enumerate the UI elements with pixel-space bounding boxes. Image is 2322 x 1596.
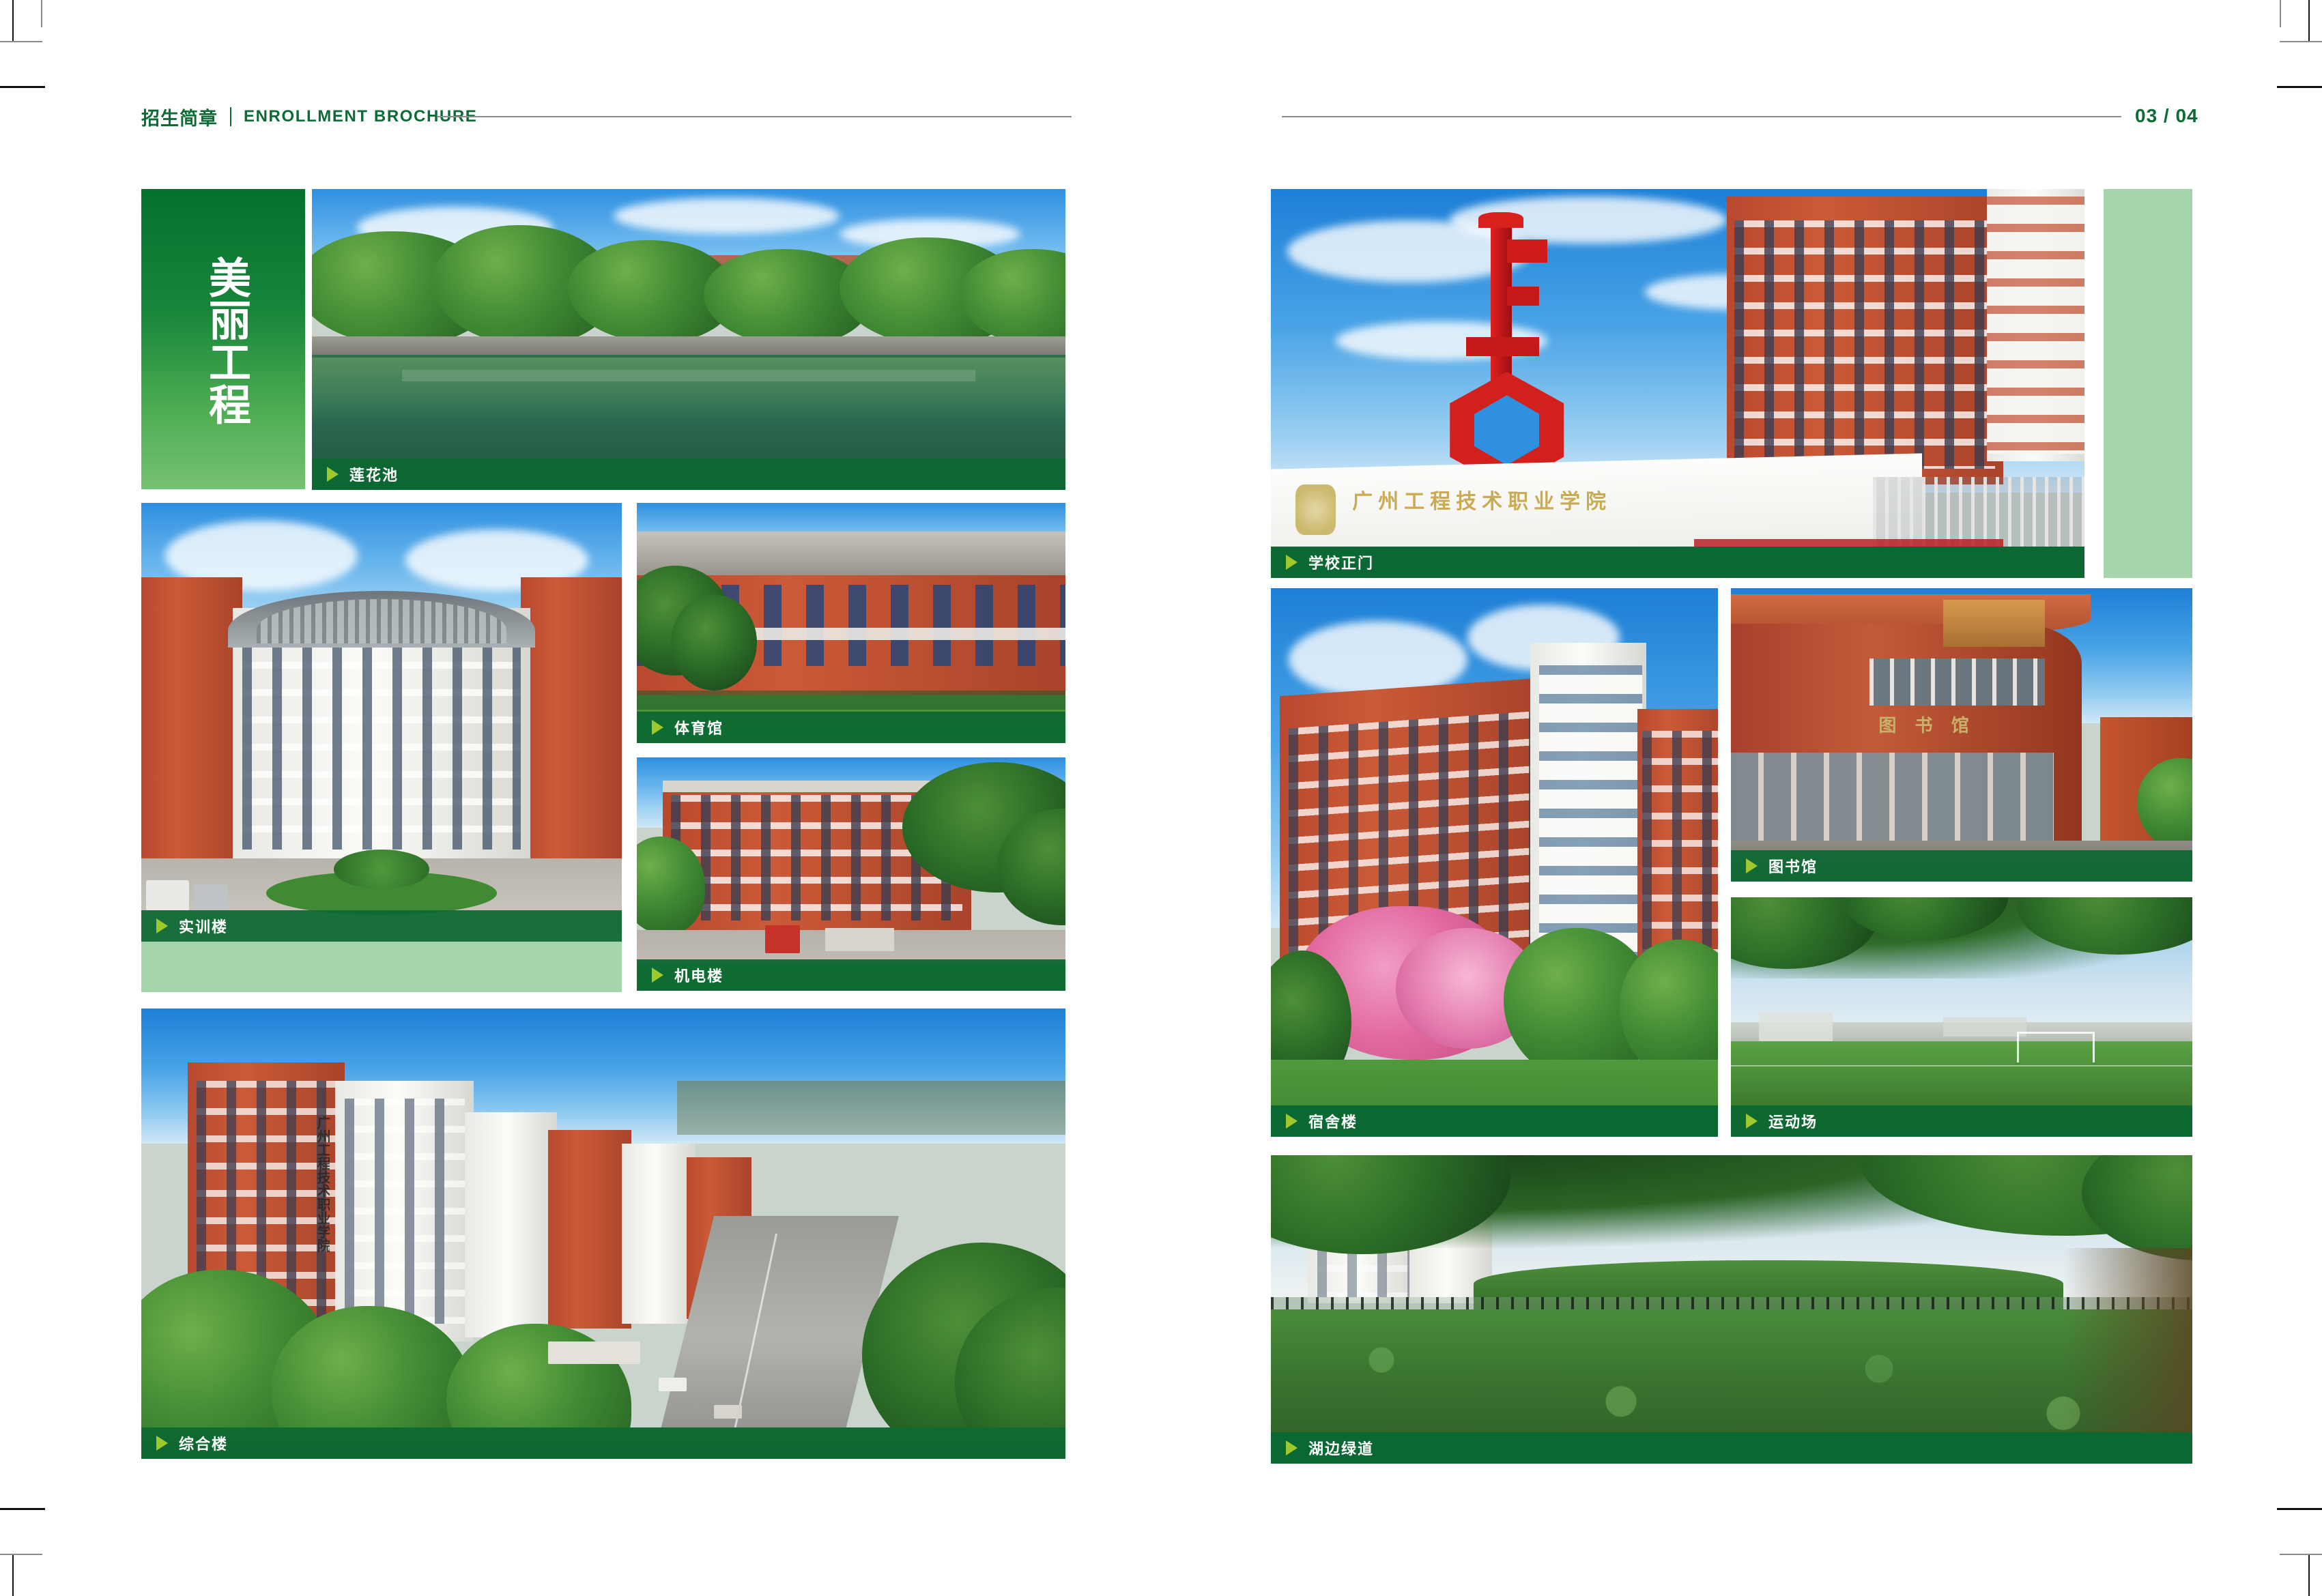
caption-label: 湖边绿道 <box>1308 1437 1374 1459</box>
caption-comprehensive-building: 综合楼 <box>141 1427 1065 1459</box>
caption-dormitory: 宿舍楼 <box>1271 1105 1718 1137</box>
caption-label: 学校正门 <box>1308 551 1374 573</box>
title-divider <box>230 107 231 126</box>
photo-dormitory[interactable]: 宿舍楼 <box>1271 588 1718 1137</box>
caption-label: 机电楼 <box>674 964 723 986</box>
triangle-icon <box>1286 1440 1298 1455</box>
caption-sports-field: 运动场 <box>1731 1105 2192 1137</box>
caption-electromechanical-building: 机电楼 <box>637 959 1065 991</box>
caption-label: 运动场 <box>1768 1110 1818 1132</box>
gate-school-name: 广州工程技术职业学院 <box>1352 484 1808 539</box>
photo-lotus-pond[interactable]: 莲花池 <box>312 189 1065 490</box>
caption-label: 体育馆 <box>674 716 723 738</box>
library-sign-text: 图 书 馆 <box>1878 712 2035 747</box>
crop-mark-br-v <box>2308 1554 2310 1596</box>
page-header: 招生简章 ENROLLMENT BROCHURE 03 / 04 <box>0 101 2322 132</box>
scene-lotus-pond <box>312 189 1065 490</box>
photo-main-gate[interactable]: 广州工程技术职业学院 学校正门 <box>1271 189 2084 578</box>
scene-lakeside-greenway <box>1271 1155 2192 1464</box>
brochure-title: 招生简章 ENROLLMENT BROCHURE <box>141 101 477 132</box>
photo-gymnasium[interactable]: 体育馆 <box>637 503 1065 743</box>
triangle-icon <box>652 720 663 735</box>
photo-library[interactable]: 图 书 馆 图书馆 <box>1731 588 2192 882</box>
triangle-icon <box>1746 1114 1758 1129</box>
triangle-icon <box>156 1436 168 1451</box>
photo-training-building[interactable]: 实训楼 <box>141 503 622 942</box>
caption-label: 图书馆 <box>1768 855 1818 877</box>
crop-mark-bl-v <box>12 1554 14 1596</box>
triangle-icon <box>652 968 663 983</box>
caption-gymnasium: 体育馆 <box>637 712 1065 743</box>
crop-mark-br-h2 <box>2277 1508 2322 1510</box>
crop-mark-tr-h2 <box>2277 86 2322 88</box>
triangle-icon <box>156 918 168 933</box>
accent-panel-right <box>2104 189 2192 578</box>
caption-library: 图书馆 <box>1731 850 2192 882</box>
brochure-title-cn: 招生简章 <box>141 104 218 130</box>
crop-mark-tl-h2 <box>0 86 45 88</box>
triangle-icon <box>1286 555 1298 570</box>
scene-main-gate: 广州工程技术职业学院 <box>1271 189 2084 578</box>
caption-main-gate: 学校正门 <box>1271 547 2084 578</box>
accent-panel-left <box>141 942 622 992</box>
header-rule-right <box>1282 116 2121 117</box>
caption-label: 综合楼 <box>179 1432 228 1454</box>
triangle-icon <box>327 467 339 482</box>
school-logo-icon <box>1295 484 1336 535</box>
triangle-icon <box>1746 858 1758 873</box>
scene-gymnasium <box>637 503 1065 743</box>
photo-sports-field[interactable]: 运动场 <box>1731 897 2192 1137</box>
caption-lotus-pond: 莲花池 <box>312 459 1065 490</box>
scene-electromechanical-building <box>637 757 1065 991</box>
crop-mark-tl-v2 <box>41 0 42 27</box>
caption-training-building: 实训楼 <box>141 910 622 942</box>
photo-electromechanical-building[interactable]: 机电楼 <box>637 757 1065 991</box>
caption-label: 宿舍楼 <box>1308 1110 1358 1132</box>
caption-label: 实训楼 <box>179 915 228 937</box>
crop-mark-bl-h2 <box>0 1508 45 1510</box>
scene-training-building <box>141 503 622 942</box>
scene-library: 图 书 馆 <box>1731 588 2192 882</box>
caption-lakeside-greenway: 湖边绿道 <box>1271 1432 2192 1464</box>
crop-mark-tr-h <box>2280 41 2322 42</box>
header-rule-left <box>437 116 1072 117</box>
section-title-block: 美丽工程 <box>141 189 305 489</box>
building-school-name: 广州工程技术职业学院 <box>300 1076 330 1292</box>
crop-mark-bl-h <box>0 1554 42 1555</box>
crop-mark-tr-v <box>2308 0 2310 42</box>
scene-comprehensive-building: 广州工程技术职业学院 <box>141 1009 1065 1459</box>
triangle-icon <box>1286 1114 1298 1129</box>
section-title-text: 美丽工程 <box>199 218 247 463</box>
crop-mark-tr-v2 <box>2280 0 2281 27</box>
scene-dormitory <box>1271 588 1718 1137</box>
crop-mark-tl-h <box>0 41 42 42</box>
caption-label: 莲花池 <box>349 463 399 485</box>
photo-comprehensive-building[interactable]: 广州工程技术职业学院 综合楼 <box>141 1009 1065 1459</box>
crop-mark-tl-v <box>12 0 14 42</box>
photo-lakeside-greenway[interactable]: 湖边绿道 <box>1271 1155 2192 1464</box>
crop-mark-br-h <box>2280 1554 2322 1555</box>
page-number: 03 / 04 <box>2135 105 2198 127</box>
scene-sports-field <box>1731 897 2192 1137</box>
